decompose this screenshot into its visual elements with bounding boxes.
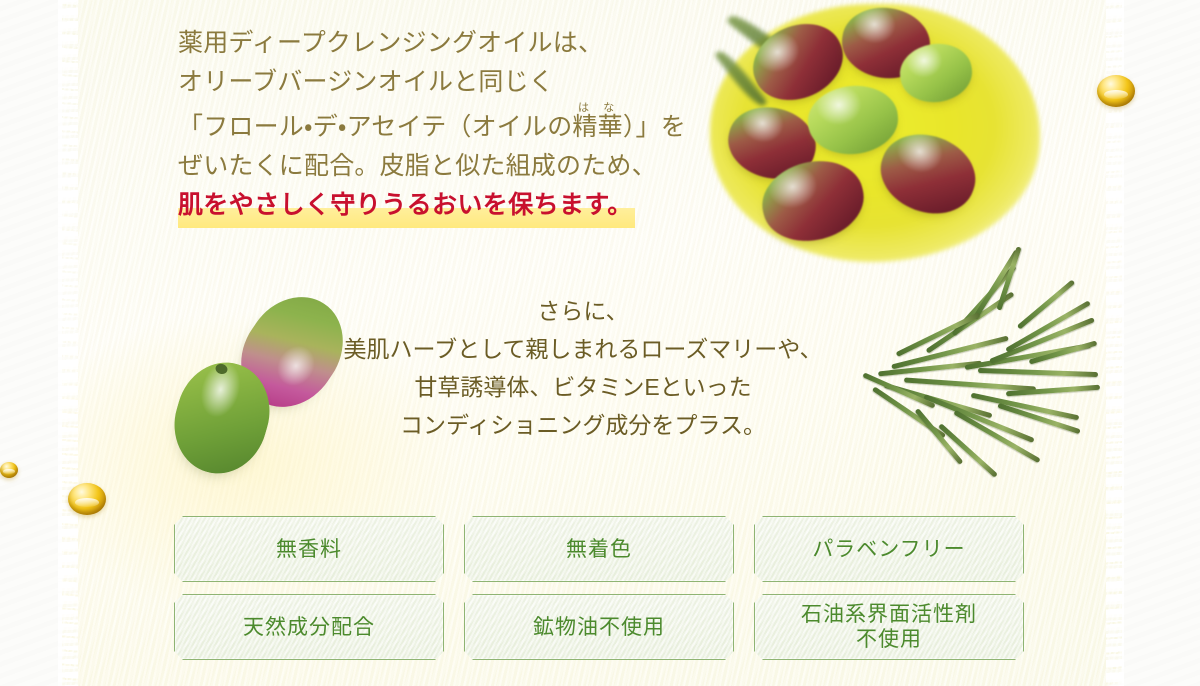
badge-label: 鉱物油不使用 [533, 615, 665, 640]
badge-label: 無香料 [276, 537, 342, 562]
lede-line-2: オリーブバージンオイルと同じく [178, 63, 708, 102]
oil-droplet-icon [1097, 75, 1135, 107]
lede-line-3-suffix: ）」を [623, 113, 686, 141]
highlighted-claim-text: 肌をやさしく守りうるおいを保ちます。 [178, 186, 635, 228]
badge-colorant-free[interactable]: 無着色 [464, 516, 734, 582]
lede-highlight-line: 肌をやさしく守りうるおいを保ちます。 [178, 186, 708, 228]
ruby-base: 精華 [572, 113, 622, 141]
ruby-seika: 精華はな [572, 113, 622, 141]
page-margin-right [1124, 0, 1200, 686]
secondary-line-2: 美肌ハーブとして親しまれるローズマリーや、 [338, 330, 828, 368]
badge-fragrance-free[interactable]: 無香料 [174, 516, 444, 582]
lede-line-4: ぜいたくに配合。皮脂と似た組成のため、 [178, 147, 708, 186]
badge-label: パラベンフリー [812, 537, 965, 562]
secondary-line-3: 甘草誘導体、ビタミンEといった [338, 368, 828, 406]
lede-line-1: 薬用ディープクレンジングオイルは、 [178, 24, 708, 63]
feature-badge-grid: 無香料 無着色 パラベンフリー 天然成分配合 鉱物油不使用 石油系界面活性剤 [174, 516, 1014, 660]
badge-label: 石油系界面活性剤 不使用 [801, 602, 977, 652]
badge-label: 無着色 [566, 537, 632, 562]
badge-petro-surfactant-free[interactable]: 石油系界面活性剤 不使用 [754, 594, 1024, 660]
oil-droplet-icon [68, 483, 106, 515]
product-description-panel: 薬用ディープクレンジングオイルは、 オリーブバージンオイルと同じく 「フロール・… [0, 0, 1200, 686]
lede-line-3: 「フロール・デ・アセイテ（オイルの精華はな）」を [178, 102, 708, 147]
secondary-line-4: コンディショニング成分をプラス。 [338, 406, 828, 444]
page-margin-left [0, 0, 58, 686]
lede-line-3-prefix: 「フロール・デ・アセイテ（オイルの [178, 113, 572, 141]
badge-paraben-free[interactable]: パラベンフリー [754, 516, 1024, 582]
secondary-paragraph: さらに、 美肌ハーブとして親しまれるローズマリーや、 甘草誘導体、ビタミンEとい… [338, 292, 828, 444]
badge-label: 天然成分配合 [243, 615, 375, 640]
badge-natural-blend[interactable]: 天然成分配合 [174, 594, 444, 660]
secondary-line-1: さらに、 [338, 292, 828, 330]
badge-mineral-oil-free[interactable]: 鉱物油不使用 [464, 594, 734, 660]
ruby-annotation: はな [572, 102, 622, 114]
oil-droplet-icon [0, 462, 18, 478]
lede-paragraph: 薬用ディープクレンジングオイルは、 オリーブバージンオイルと同じく 「フロール・… [178, 24, 708, 228]
